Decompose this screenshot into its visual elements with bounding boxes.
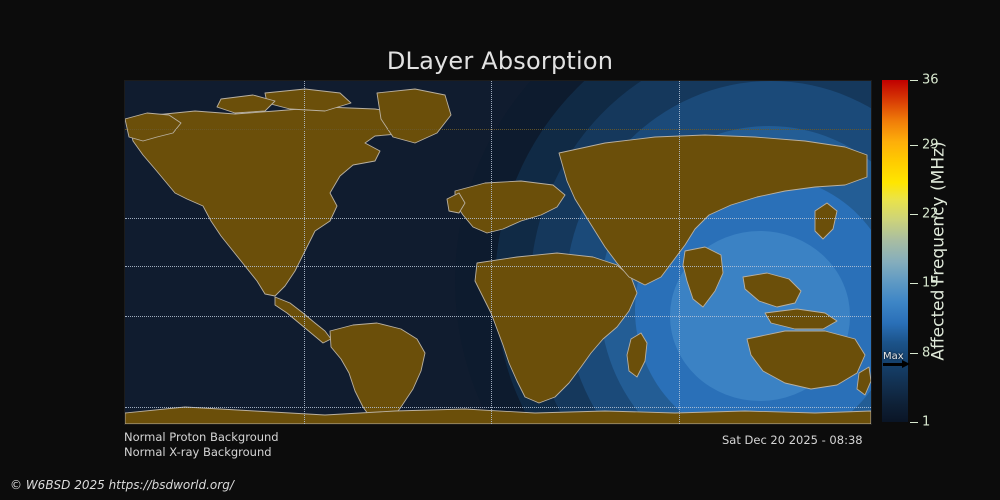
dlayer-absorption-page: DLayer Absorption bbox=[0, 0, 1000, 500]
colorbar-tick-8 bbox=[910, 353, 918, 354]
colorbar-tick-15 bbox=[910, 283, 918, 284]
max-marker-label: Max bbox=[883, 351, 904, 362]
gridline-horizontal-4 bbox=[125, 407, 871, 408]
landmass-southeast-asia bbox=[743, 273, 801, 307]
landmass-japan bbox=[815, 203, 837, 239]
page-title: DLayer Absorption bbox=[0, 47, 1000, 75]
landmass-madagascar bbox=[627, 333, 647, 377]
colorbar-tick-29 bbox=[910, 145, 918, 146]
max-marker-arrow-icon bbox=[883, 363, 903, 366]
gridline-arctic-circle bbox=[125, 129, 871, 130]
gridline-vertical-1 bbox=[304, 81, 305, 424]
max-marker: Max bbox=[882, 352, 908, 374]
colorbar-tick-1 bbox=[910, 422, 918, 423]
landmass-africa bbox=[475, 253, 637, 403]
landmass-antarctica bbox=[125, 407, 871, 424]
landmass-australia bbox=[747, 331, 865, 389]
colorbar-axis-label-text: Affected Frequency (MHz) bbox=[929, 141, 949, 360]
proton-status-text: Normal Proton Background bbox=[124, 430, 279, 444]
landmass-central-america bbox=[275, 297, 331, 343]
colorbar-tick-22 bbox=[910, 214, 918, 215]
landmass-south-america bbox=[330, 323, 425, 423]
colorbar-axis-label: Affected Frequency (MHz) bbox=[925, 80, 953, 422]
gridline-vertical-2 bbox=[491, 81, 492, 424]
landmass-north-america bbox=[129, 107, 425, 296]
landmass-europe bbox=[455, 181, 565, 233]
gridline-vertical-3 bbox=[679, 81, 680, 424]
map-canvas bbox=[125, 81, 871, 424]
timestamp-text: Sat Dec 20 2025 - 08:38 bbox=[722, 433, 863, 447]
world-map-plot[interactable] bbox=[124, 80, 872, 425]
colorbar-tick-36 bbox=[910, 80, 918, 81]
colorbar[interactable]: 36 29 22 15 8 1 Max bbox=[882, 80, 908, 422]
gridline-horizontal-1 bbox=[125, 218, 871, 219]
xray-status-text: Normal X-ray Background bbox=[124, 445, 272, 459]
gridline-horizontal-3 bbox=[125, 316, 871, 317]
copyright-text: © W6BSD 2025 https://bsdworld.org/ bbox=[10, 478, 234, 492]
landmass-indonesia bbox=[765, 309, 837, 329]
landmass-india bbox=[683, 247, 723, 307]
landmass-new-zealand bbox=[857, 367, 871, 395]
world-landmass-layer bbox=[125, 81, 871, 424]
gridline-horizontal-2 bbox=[125, 266, 871, 267]
